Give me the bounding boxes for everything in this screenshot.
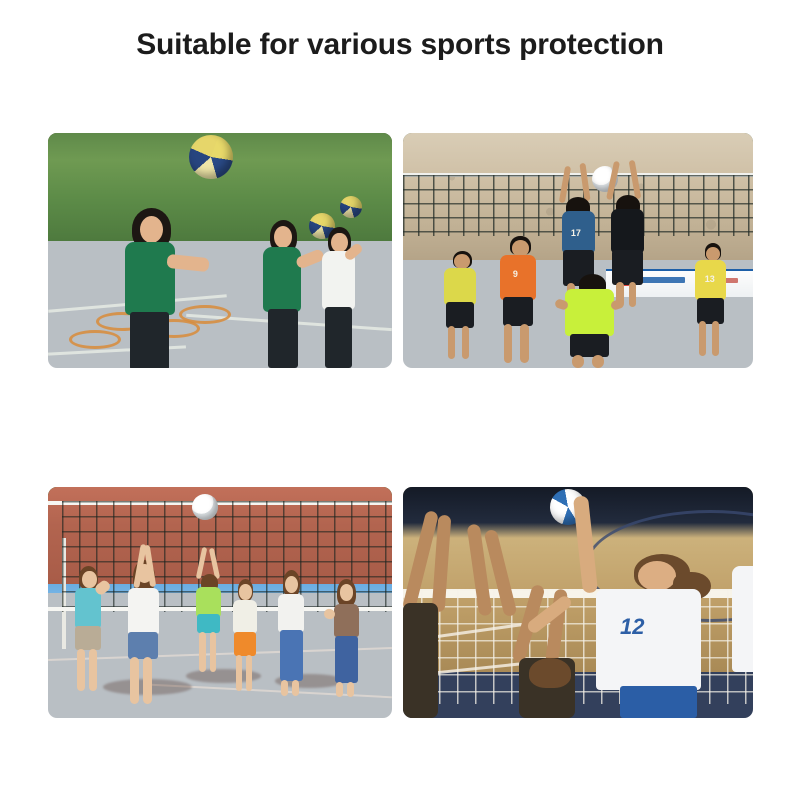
gallery-card-outdoor-activities[interactable]: Outdoor Activities [48,487,392,718]
spiker-shorts [620,686,697,718]
gallery-card-student-examination[interactable]: Student examination [48,133,392,368]
player-yellow-left [438,251,494,359]
spiker-jersey [596,589,701,691]
page-title: Suitable for various sports protection [0,28,800,62]
player-blue-jeans [272,570,317,704]
player-orange-9: 9 [494,236,557,363]
spiker-jersey-number: 12 [620,614,644,640]
player-right [327,579,372,704]
player-lime-foreground [554,274,638,368]
blocker-body-left [403,603,438,719]
photo-student-examination [48,133,392,368]
teammate-partial [732,566,753,672]
gallery-card-sports-competition[interactable]: 12 Sports competition [403,487,753,718]
player-yellow-13: 13 [690,243,743,356]
photo-sports-competition: 12 [403,487,753,718]
player-teal-tank [69,566,117,700]
photo-outdoor-beach: 17 [403,133,753,368]
player-white-tee [120,547,175,704]
player-orange-shorts [227,579,268,699]
spiker-head [638,561,677,591]
blocker-hair [529,658,571,688]
student-right [313,227,375,368]
sports-protection-gallery-page: Suitable for various sports protection [0,0,800,800]
gallery-card-outdoor-beach[interactable]: 17 [403,133,753,368]
volleyball-net [403,589,753,705]
student-foreground [117,208,213,368]
photo-outdoor-activities [48,487,392,718]
